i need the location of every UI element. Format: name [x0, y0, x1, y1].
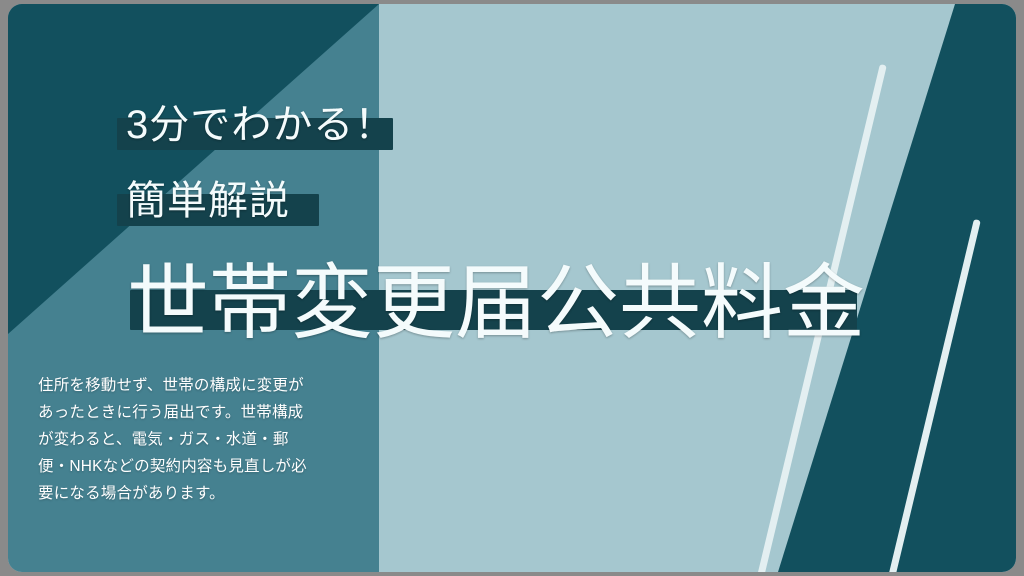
body-line: 要になる場合があります。	[38, 480, 368, 507]
body-line: が変わると、電気・ガス・水道・郵	[38, 426, 368, 453]
body-paragraph: 住所を移動せず、世帯の構成に変更が あったときに行う届出です。世帯構成 が変わる…	[38, 372, 368, 507]
eyebrow-line-2: 簡単解説	[126, 168, 290, 226]
body-line: 住所を移動せず、世帯の構成に変更が	[38, 372, 368, 399]
slide-canvas: 3分でわかる！ 簡単解説 世帯変更届公共料金 住所を移動せず、世帯の構成に変更が…	[0, 0, 1024, 576]
body-line: 便・NHKなどの契約内容も見直しが必	[38, 453, 368, 480]
slide-title: 世帯変更届公共料金	[127, 236, 865, 355]
slide-card: 3分でわかる！ 簡単解説 世帯変更届公共料金 住所を移動せず、世帯の構成に変更が…	[8, 4, 1016, 572]
body-line: あったときに行う届出です。世帯構成	[38, 399, 368, 426]
eyebrow-line-1: 3分でわかる！	[126, 92, 395, 150]
